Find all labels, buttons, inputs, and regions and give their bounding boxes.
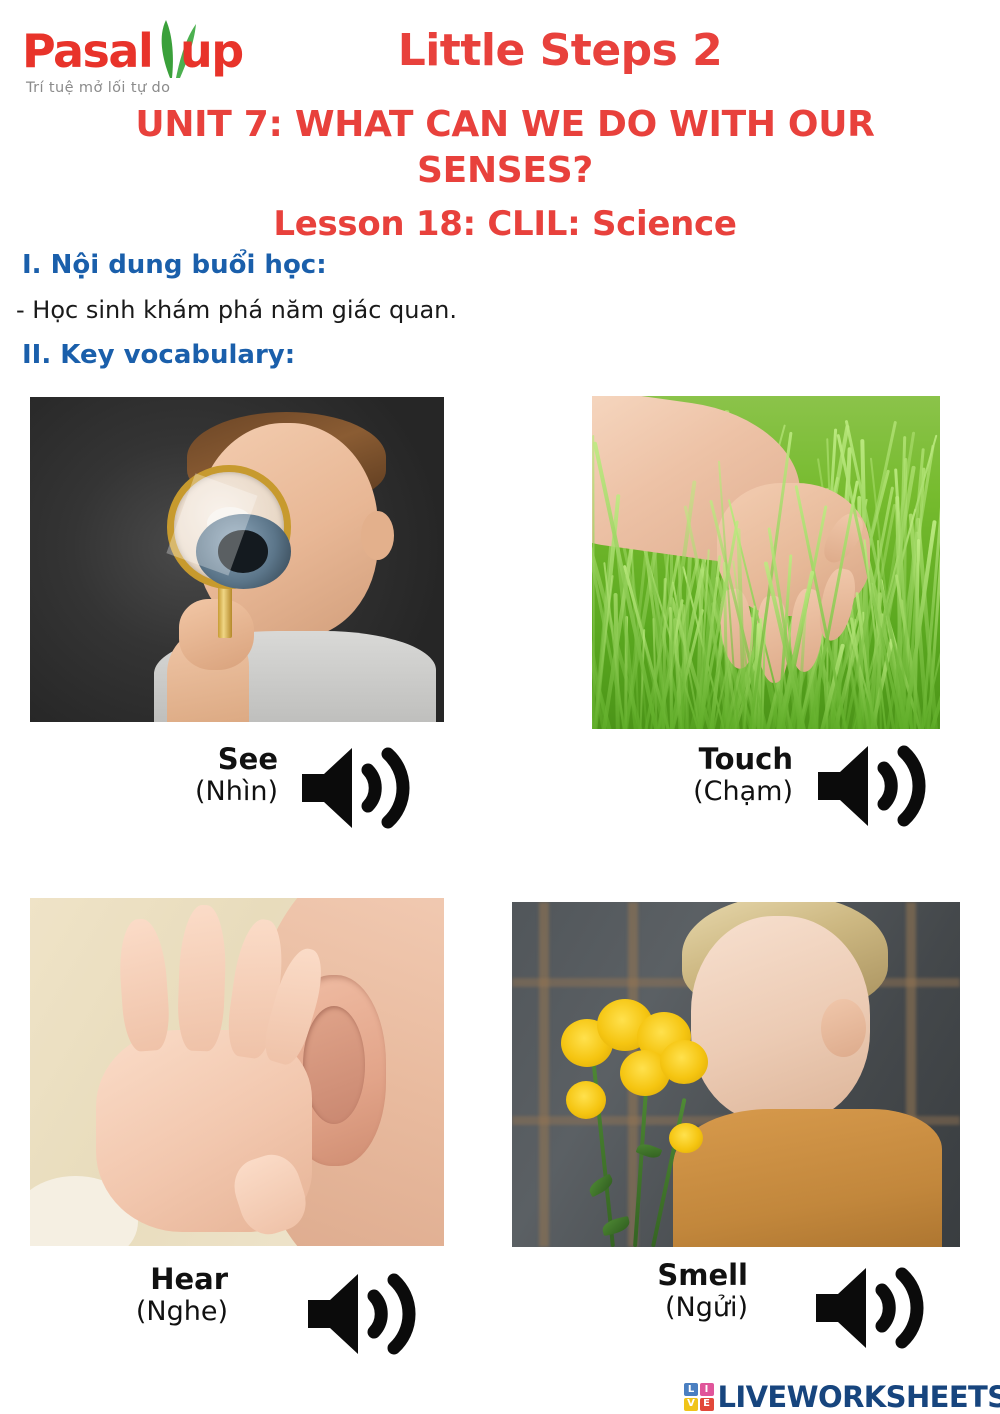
- speaker-icon[interactable]: [810, 740, 952, 832]
- photo-touch: [592, 396, 940, 729]
- photo-hear: [30, 898, 444, 1246]
- logo-tagline: Trí tuệ mở lối tự do: [26, 80, 170, 96]
- caption-english-see: See: [168, 742, 278, 776]
- section-heading-noi-dung: I. Nội dung buổi học:: [22, 250, 327, 280]
- lesson-content-line: - Học sinh khám phá năm giác quan.: [16, 296, 457, 324]
- speaker-icon[interactable]: [294, 742, 436, 834]
- caption-touch: Touch (Chạm): [645, 742, 793, 808]
- caption-see: See (Nhìn): [168, 742, 278, 808]
- liveworksheets-logo-mark: L I V E: [684, 1383, 714, 1411]
- photo-see: [30, 397, 444, 722]
- caption-english-smell: Smell: [600, 1258, 748, 1292]
- caption-vietnamese-touch: (Chạm): [645, 776, 793, 808]
- logo-tile-e: E: [700, 1398, 714, 1411]
- caption-vietnamese-see: (Nhìn): [168, 776, 278, 808]
- liveworksheets-watermark[interactable]: L I V E LIVEWORKSHEETS: [684, 1380, 1000, 1414]
- lesson-title: Lesson 18: CLIL: Science: [60, 204, 950, 244]
- speaker-icon[interactable]: [808, 1262, 950, 1354]
- logo-tile-l: L: [684, 1383, 698, 1396]
- caption-vietnamese-hear: (Nghe): [100, 1296, 228, 1328]
- section-heading-key-vocabulary: II. Key vocabulary:: [22, 340, 295, 370]
- logo-tile-i: I: [700, 1383, 714, 1396]
- photo-smell: [512, 902, 960, 1247]
- caption-english-touch: Touch: [645, 742, 793, 776]
- book-title: Little Steps 2: [280, 28, 840, 74]
- logo-wordmark-pasal: Pasal: [22, 28, 152, 74]
- logo-tile-v: V: [684, 1398, 698, 1411]
- logo-wordmark-up: up: [180, 28, 243, 74]
- caption-english-hear: Hear: [100, 1262, 228, 1296]
- caption-hear: Hear (Nghe): [100, 1262, 228, 1328]
- liveworksheets-wordmark: LIVEWORKSHEETS: [718, 1380, 1000, 1414]
- speaker-icon[interactable]: [300, 1268, 442, 1360]
- pasal-up-logo: Pasal up Trí tuệ mở lối tự do: [22, 24, 268, 100]
- caption-smell: Smell (Ngửi): [600, 1258, 748, 1324]
- worksheet-page: Pasal up Trí tuệ mở lối tự do Little Ste…: [0, 0, 1000, 1414]
- unit-title: UNIT 7: WHAT CAN WE DO WITH OUR SENSES?: [60, 102, 950, 194]
- caption-vietnamese-smell: (Ngửi): [600, 1292, 748, 1324]
